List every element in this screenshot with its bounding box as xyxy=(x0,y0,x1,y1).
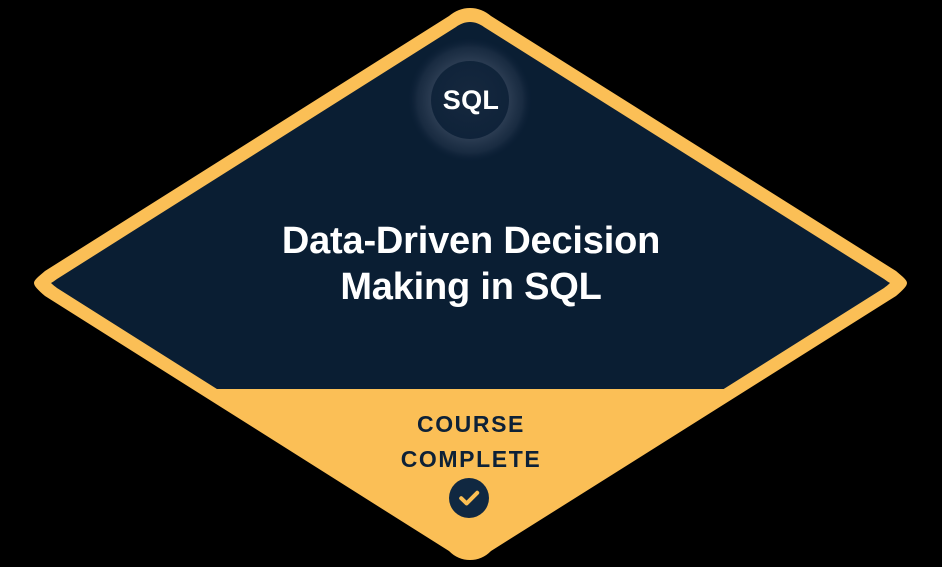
badge-navy-panel xyxy=(0,0,942,389)
badge-shape xyxy=(0,0,942,567)
badge-canvas: SQL Data-Driven Decision Making in SQL C… xyxy=(0,0,942,567)
sql-icon xyxy=(408,38,532,162)
sql-icon-core xyxy=(431,61,509,139)
